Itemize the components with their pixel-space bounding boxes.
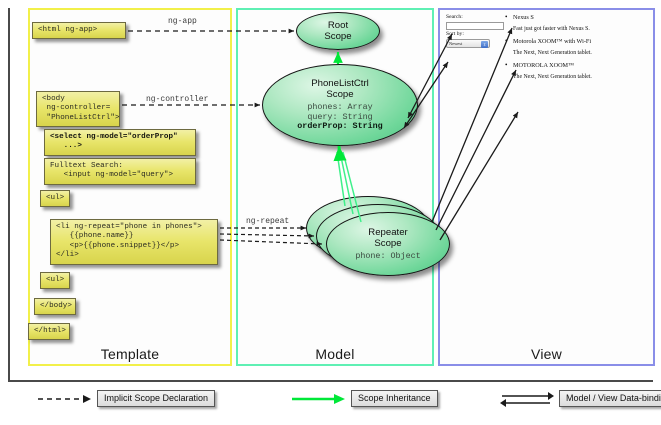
code-box-ul-open: <ul> xyxy=(40,190,70,207)
wire-label-ng-app: ng-app xyxy=(168,17,197,26)
wire-label-ng-repeat: ng-repeat xyxy=(246,217,289,226)
scope-phonelistctrl: PhoneListCtrl Scope phones: Array query:… xyxy=(262,64,418,146)
scope-root: Root Scope xyxy=(296,12,380,50)
legend: Implicit Scope Declaration Scope Inherit… xyxy=(8,380,653,418)
code-box-body-close: </body> xyxy=(34,298,76,315)
code-box-input: Fulltext Search: <input ng-model="query"… xyxy=(44,158,196,185)
scope-ctrl-title-1: PhoneListCtrl xyxy=(311,78,369,89)
scope-repeater: Repeater Scope phone: Object xyxy=(326,212,450,276)
scope-repeater-title-1: Repeater xyxy=(368,227,407,238)
scope-root-title-1: Root xyxy=(328,20,348,31)
scope-ctrl-props: phones: Array query: String orderProp: S… xyxy=(297,103,382,132)
chevron-updown-icon[interactable]: ⇳ xyxy=(481,41,488,48)
phone-snippet: Fast just got faster with Nexus S. xyxy=(504,25,648,33)
legend-label-databinding: Model / View Data-binding xyxy=(559,390,661,407)
scope-ctrl-title-2: Scope xyxy=(326,89,353,100)
list-item[interactable]: Nexus S Fast just got faster with Nexus … xyxy=(504,14,648,33)
scope-ctrl-props-plain: phones: Array query: String xyxy=(307,102,372,122)
legend-item-databinding: Model / View Data-binding xyxy=(498,390,661,407)
green-arrow-icon xyxy=(290,391,346,407)
legend-item-inheritance: Scope Inheritance xyxy=(290,390,438,407)
phone-name: Nexus S xyxy=(504,14,648,22)
dashed-arrow-icon xyxy=(36,391,92,407)
legend-item-implicit: Implicit Scope Declaration xyxy=(36,390,215,407)
sort-by-select[interactable]: Newest ⇳ xyxy=(446,39,490,48)
phone-snippet: The Next, Next Generation tablet. xyxy=(504,73,648,81)
code-box-html-open: <html ng-app> xyxy=(32,22,126,39)
wire-label-ng-controller: ng-controller xyxy=(146,95,208,104)
scope-repeater-title-2: Scope xyxy=(374,238,401,249)
double-arrow-icon xyxy=(498,391,554,407)
phone-list: Nexus S Fast just got faster with Nexus … xyxy=(504,14,648,86)
legend-label-inheritance: Scope Inheritance xyxy=(351,390,438,407)
phone-name: Motorola XOOM™ with Wi-Fi xyxy=(504,38,648,46)
panel-model: Model xyxy=(236,8,434,366)
list-item[interactable]: MOTOROLA XOOM™ The Next, Next Generation… xyxy=(504,62,648,81)
panel-view-label: View xyxy=(440,346,653,362)
phone-name: MOTOROLA XOOM™ xyxy=(504,62,648,70)
sort-by-value: Newest xyxy=(447,41,462,46)
code-box-select: <select ng-model="orderProp" ...> xyxy=(44,129,196,156)
legend-label-implicit: Implicit Scope Declaration xyxy=(97,390,215,407)
code-box-body-open: <body ng-controller= "PhoneListCtrl"> xyxy=(36,91,120,127)
scope-root-title-2: Scope xyxy=(324,31,351,42)
scope-ctrl-props-bold: orderProp: String xyxy=(297,121,382,131)
panel-template-label: Template xyxy=(30,346,230,362)
scope-repeater-props: phone: Object xyxy=(355,252,420,262)
code-box-li-repeat: <li ng-repeat="phone in phones"> {{phone… xyxy=(50,219,218,265)
phone-snippet: The Next, Next Generation tablet. xyxy=(504,49,648,57)
code-box-ul-close: <ul> xyxy=(40,272,70,289)
diagram-canvas: Template Model View <html ng-app> <body … xyxy=(0,0,661,425)
panel-model-label: Model xyxy=(238,346,432,362)
code-box-html-close: </html> xyxy=(28,323,70,340)
view-rendered-app: Search: Sort by: Newest ⇳ Nexus S Fast j… xyxy=(446,14,648,132)
list-item[interactable]: Motorola XOOM™ with Wi-Fi The Next, Next… xyxy=(504,38,648,57)
search-input[interactable] xyxy=(446,22,504,30)
left-rule xyxy=(8,8,10,380)
